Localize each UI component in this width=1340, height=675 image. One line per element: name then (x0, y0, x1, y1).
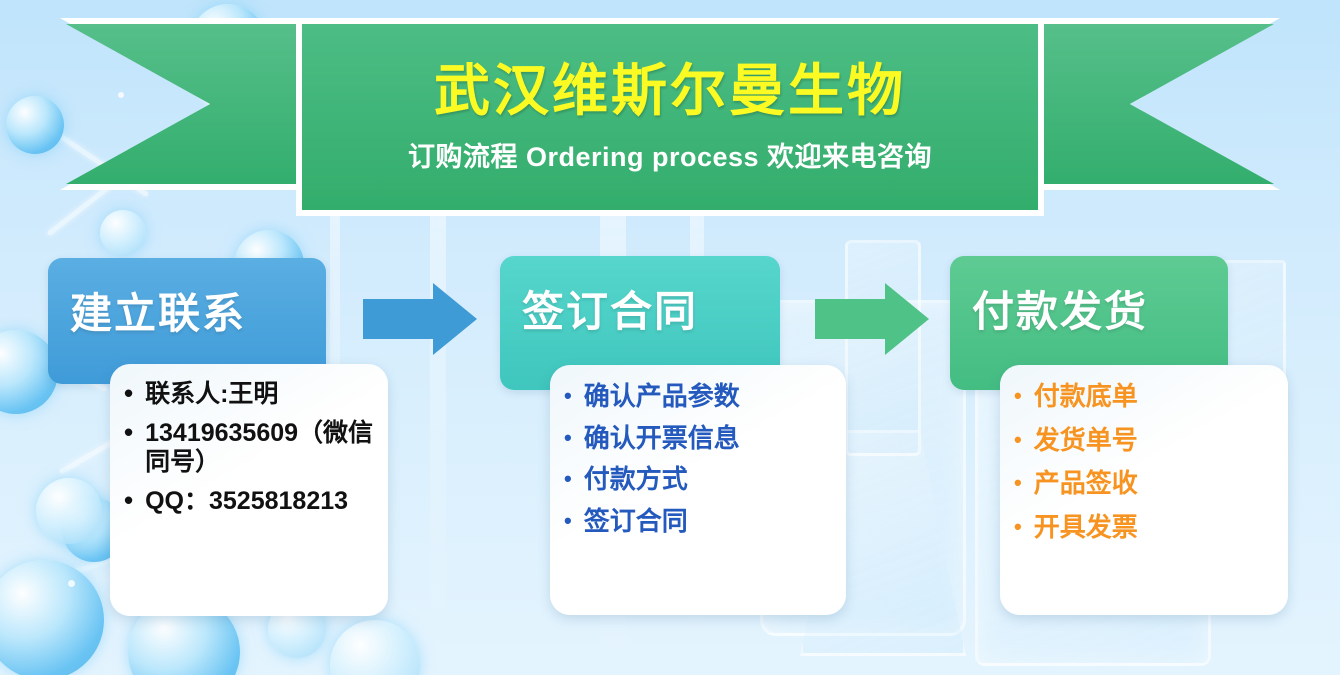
bullet-icon: • (124, 487, 133, 513)
list-item: • 付款方式 (564, 464, 832, 495)
step-bullet-list: • 确认产品参数 • 确认开票信息 • 付款方式 • 签订合同 (564, 381, 832, 537)
list-item-label: 确认产品参数 (584, 381, 740, 412)
list-item-label: 产品签收 (1034, 468, 1138, 499)
list-item-label: QQ：3525818213 (145, 487, 348, 517)
banner-ribbon: 武汉维斯尔曼生物 订购流程 Ordering process 欢迎来电咨询 (0, 18, 1340, 218)
bullet-icon: • (124, 419, 133, 445)
molecule-sphere (36, 478, 102, 544)
bullet-icon: • (1014, 516, 1022, 538)
molecule-sphere (330, 620, 420, 675)
arrow-head (885, 283, 929, 355)
list-item: • 签订合同 (564, 506, 832, 537)
list-item-label: 确认开票信息 (584, 423, 740, 454)
list-item-label: 联系人:王明 (145, 380, 278, 410)
list-item: • QQ：3525818213 (124, 487, 374, 517)
list-item-label: 付款底单 (1034, 381, 1138, 412)
step-header-label: 签订合同 (500, 256, 698, 339)
bullet-icon: • (1014, 472, 1022, 494)
bullet-icon: • (1014, 429, 1022, 451)
step-card-contact: • 联系人:王明 • 13419635609（微信同号） • QQ：352581… (110, 364, 388, 616)
arrow-head (433, 283, 477, 355)
bullet-icon: • (564, 385, 572, 407)
step-header-label: 建立联系 (48, 258, 246, 341)
step-header-label: 付款发货 (950, 256, 1148, 339)
ribbon-tail-left-fill (66, 24, 328, 184)
arrow-shaft (815, 299, 887, 339)
molecule-bond (0, 554, 123, 605)
step-bullet-list: • 联系人:王明 • 13419635609（微信同号） • QQ：352581… (124, 380, 374, 516)
glass-highlight (430, 215, 446, 655)
list-item: • 联系人:王明 (124, 380, 374, 410)
step-card-contract: • 确认产品参数 • 确认开票信息 • 付款方式 • 签订合同 (550, 365, 846, 615)
list-item: • 开具发票 (1014, 512, 1274, 543)
page-title: 武汉维斯尔曼生物 (434, 60, 906, 122)
list-item: • 确认产品参数 (564, 381, 832, 412)
list-item: • 13419635609（微信同号） (124, 419, 374, 478)
sparkle-dot (68, 580, 75, 587)
ribbon-tail-right-fill (1012, 24, 1274, 184)
ribbon-center: 武汉维斯尔曼生物 订购流程 Ordering process 欢迎来电咨询 (302, 24, 1038, 210)
list-item-label: 开具发票 (1034, 512, 1138, 543)
bullet-icon: • (564, 468, 572, 490)
page-subtitle: 订购流程 Ordering process 欢迎来电咨询 (408, 135, 932, 174)
bullet-icon: • (564, 510, 572, 532)
step-card-payment: • 付款底单 • 发货单号 • 产品签收 • 开具发票 (1000, 365, 1288, 615)
list-item-label: 13419635609（微信同号） (145, 419, 374, 478)
list-item-label: 付款方式 (584, 464, 688, 495)
infographic-canvas: 武汉维斯尔曼生物 订购流程 Ordering process 欢迎来电咨询 建立… (0, 0, 1340, 675)
list-item: • 确认开票信息 (564, 423, 832, 454)
bullet-icon: • (124, 380, 133, 406)
bullet-icon: • (1014, 385, 1022, 407)
list-item: • 发货单号 (1014, 425, 1274, 456)
step-bullet-list: • 付款底单 • 发货单号 • 产品签收 • 开具发票 (1014, 381, 1274, 543)
bullet-icon: • (564, 427, 572, 449)
list-item: • 付款底单 (1014, 381, 1274, 412)
list-item-label: 签订合同 (584, 506, 688, 537)
arrow-shaft (363, 299, 435, 339)
molecule-sphere (0, 560, 104, 675)
list-item-label: 发货单号 (1034, 425, 1138, 456)
list-item: • 产品签收 (1014, 468, 1274, 499)
